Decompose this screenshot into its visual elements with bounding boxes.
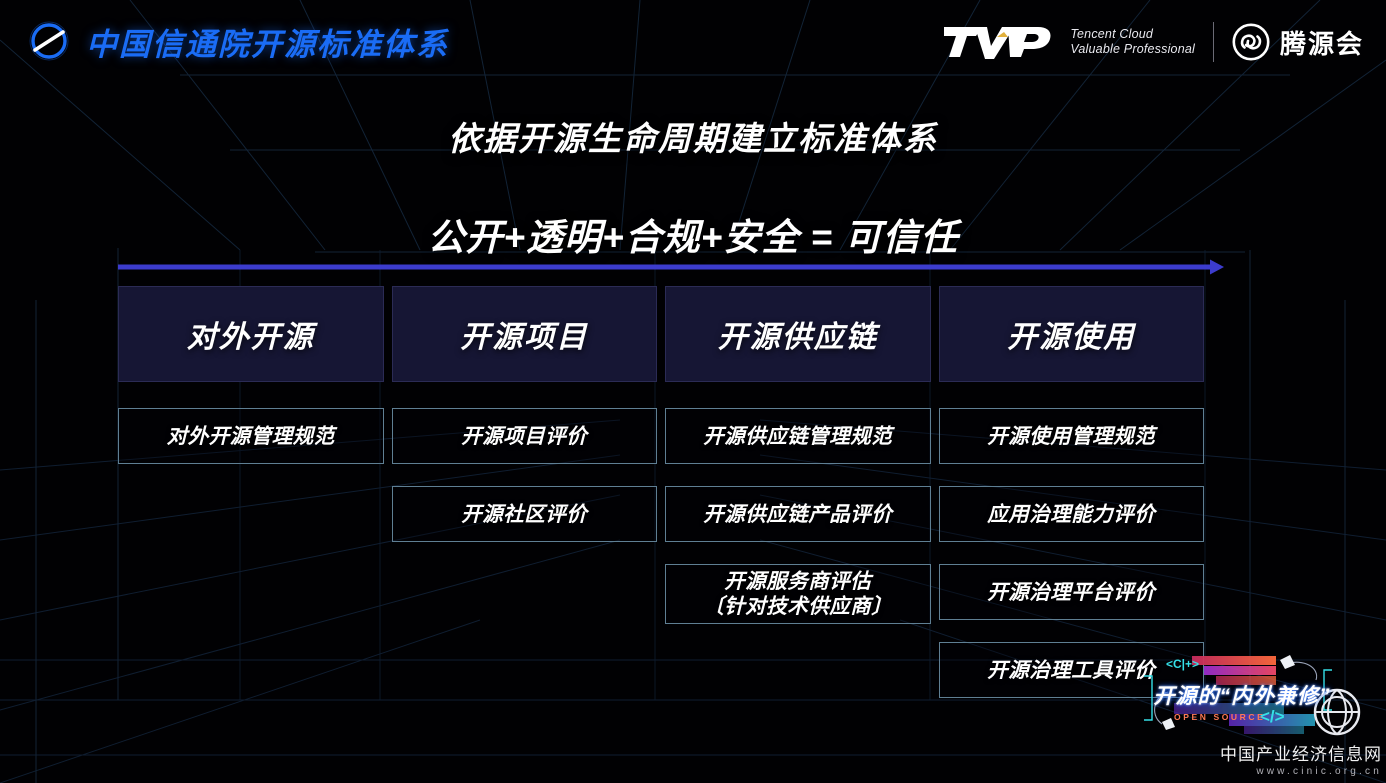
column-header-4[interactable]: 开源使用 [939, 286, 1205, 382]
logo-divider [1213, 22, 1214, 62]
tengyuanhui-lockup: 腾源会 [1232, 23, 1364, 61]
site-url: www.cinic.org.cn [1220, 766, 1382, 777]
matrix-cell[interactable]: 开源供应链产品评价 [665, 486, 931, 542]
matrix-cell-placeholder [118, 642, 384, 698]
matrix-cell-label: 开源使用管理规范 [987, 424, 1155, 449]
matrix-cell-label: 开源社区评价 [461, 502, 587, 527]
matrix-cell-placeholder [392, 642, 658, 698]
event-badge-title: 开源的“内外兼修” [1142, 680, 1342, 710]
matrix-cell-placeholder [118, 486, 384, 542]
column-header-2[interactable]: 开源项目 [392, 286, 658, 382]
matrix-cell-label: 开源治理平台评价 [987, 580, 1155, 605]
matrix-cell[interactable]: 对外开源管理规范 [118, 408, 384, 464]
matrix-cell-label: 开源治理工具评价 [987, 658, 1155, 683]
matrix-cell-label: 开源供应链管理规范 [703, 424, 892, 449]
open-source-label: OPEN SOURCE [1174, 712, 1265, 722]
slide-main-title: 依据开源生命周期建立标准体系 [0, 112, 1386, 160]
column-header-3[interactable]: 开源供应链 [665, 286, 931, 382]
matrix-cell-label: 应用治理能力评价 [987, 502, 1155, 527]
slide-formula-title: 公开+透明+合规+安全 = 可信任 [0, 207, 1386, 261]
matrix-cell[interactable]: 开源社区评价 [392, 486, 658, 542]
matrix-column-3: 开源供应链 开源供应链管理规范 开源供应链产品评价 开源服务商评估 〔针对技术供… [665, 286, 931, 724]
column-header-label: 开源供应链 [718, 312, 878, 356]
caict-circle-slash-icon [26, 18, 72, 64]
column-header-label: 对外开源 [187, 312, 315, 356]
site-name: 中国产业经济信息网 [1220, 740, 1382, 765]
column-header-1[interactable]: 对外开源 [118, 286, 384, 382]
matrix-cell-label: 开源项目评价 [461, 424, 587, 449]
matrix-cell-placeholder [118, 564, 384, 620]
slide-canvas: 中国信通院开源标准体系 Tencent Cloud Valuable Profe… [0, 0, 1386, 783]
partner-logos: Tencent Cloud Valuable Professional 腾源会 [942, 22, 1364, 62]
matrix-cell-placeholder [665, 646, 931, 702]
lifecycle-arrow [118, 258, 1224, 276]
matrix-cell[interactable]: 开源供应链管理规范 [665, 408, 931, 464]
matrix-column-1: 对外开源 对外开源管理规范 [118, 286, 384, 724]
matrix-cell[interactable]: 开源使用管理规范 [939, 408, 1205, 464]
matrix-cell-placeholder [392, 564, 658, 620]
svg-text:<C|+>: <C|+> [1166, 657, 1199, 671]
matrix-cell-label: 开源服务商评估 〔针对技术供应商〕 [703, 569, 892, 619]
brand-lockup: 中国信通院开源标准体系 [26, 18, 449, 64]
tengyuanhui-label: 腾源会 [1280, 24, 1364, 61]
matrix-cell[interactable]: 开源治理平台评价 [939, 564, 1205, 620]
tvp-subtitle-line2: Valuable Professional [1070, 42, 1195, 57]
standards-matrix: 对外开源 对外开源管理规范 开源项目 开源项目评价 开源社区评价 [118, 286, 1204, 724]
matrix-cell[interactable]: 应用治理能力评价 [939, 486, 1205, 542]
event-badge: <C|+> </> 开源的“内外兼修” OPEN SOURCE [1134, 646, 1382, 751]
title-block: 依据开源生命周期建立标准体系 公开+透明+合规+安全 = 可信任 [0, 112, 1386, 261]
column-header-label: 开源项目 [460, 312, 588, 356]
site-watermark: 中国产业经济信息网 www.cinic.org.cn [1220, 740, 1382, 777]
tvp-subtitle-line1: Tencent Cloud [1070, 27, 1195, 42]
tvp-lockup: Tencent Cloud Valuable Professional [942, 22, 1195, 62]
matrix-cell-label: 开源供应链产品评价 [703, 502, 892, 527]
matrix-cell[interactable]: 开源项目评价 [392, 408, 658, 464]
matrix-cell[interactable]: 开源服务商评估 〔针对技术供应商〕 [665, 564, 931, 624]
column-header-label: 开源使用 [1007, 312, 1135, 356]
slide-header: 中国信通院开源标准体系 Tencent Cloud Valuable Profe… [0, 0, 1386, 92]
tvp-logo-icon [942, 22, 1060, 62]
matrix-column-2: 开源项目 开源项目评价 开源社区评价 [392, 286, 658, 724]
matrix-cell-label: 对外开源管理规范 [167, 424, 335, 449]
tengyuanhui-knot-icon [1232, 23, 1270, 61]
tvp-subtitle: Tencent Cloud Valuable Professional [1070, 27, 1195, 57]
brand-title: 中国信通院开源标准体系 [86, 19, 449, 64]
